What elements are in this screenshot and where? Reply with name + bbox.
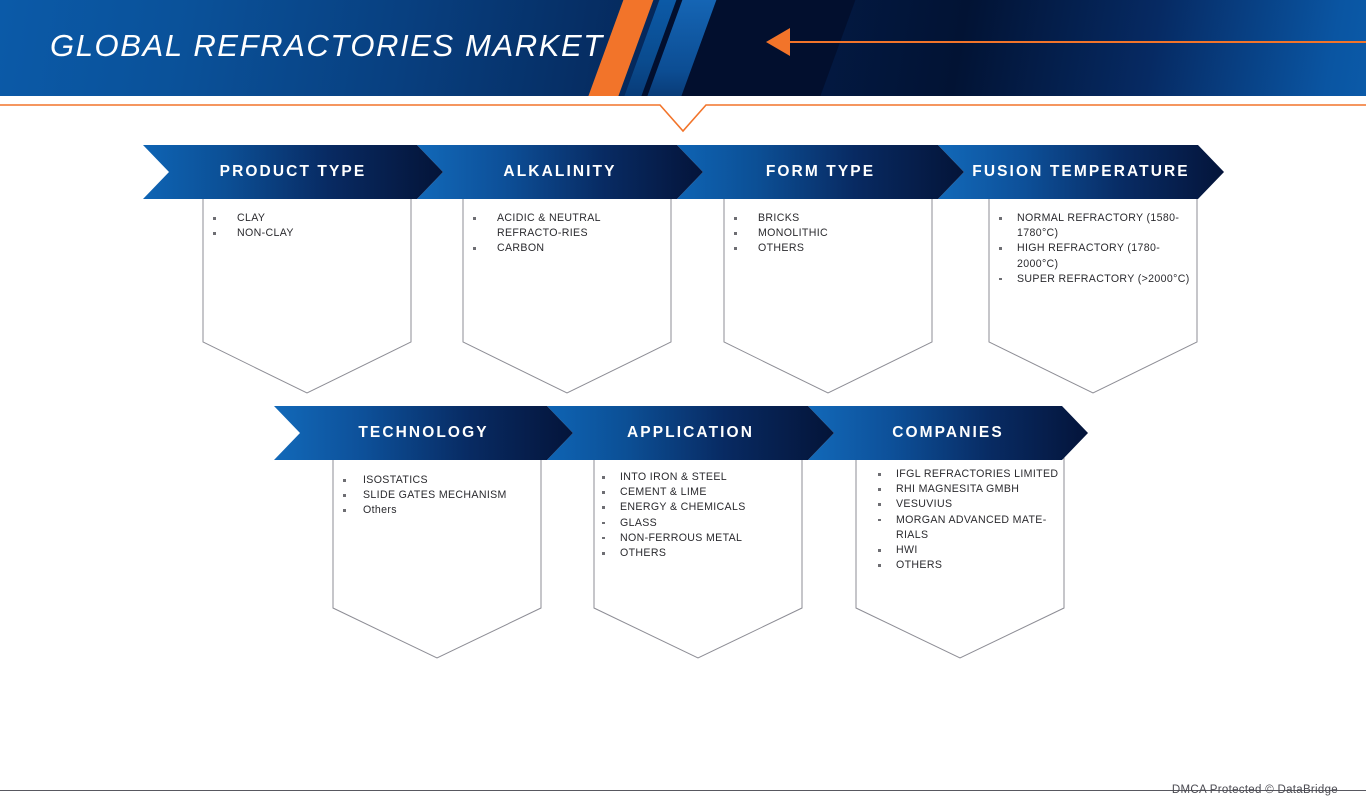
list-item: BRICKS <box>758 211 924 226</box>
list-item: NON-FERROUS METAL <box>620 531 794 546</box>
bullet-icon <box>999 217 1002 220</box>
list-item-label: ENERGY & CHEMICALS <box>620 501 746 513</box>
banner-form-type[interactable]: FORM TYPE <box>703 145 938 199</box>
banner-label-product-type: PRODUCT TYPE <box>220 163 367 181</box>
list-item-label: HIGH REFRACTORY (1780-2000°C) <box>1017 242 1160 269</box>
banner-label-companies: COMPANIES <box>892 424 1004 442</box>
list-item: CARBON <box>497 241 657 256</box>
list-item-label: IFGL REFRACTORIES LIMITED <box>896 468 1058 480</box>
list-item: CEMENT & LIME <box>620 485 794 500</box>
list-fusion-temperature: NORMAL REFRACTORY (1580-1780°C) HIGH REF… <box>1017 211 1195 287</box>
list-item-label: MONOLITHIC <box>758 227 828 239</box>
banner-label-application: APPLICATION <box>627 424 754 442</box>
list-item: ACIDIC & NEUTRAL REFRACTO-RIES <box>497 211 657 241</box>
list-form-type: BRICKS MONOLITHIC OTHERS <box>758 211 924 257</box>
bullet-icon <box>343 494 346 497</box>
bullet-icon <box>602 491 605 494</box>
list-item: RHI MAGNESITA GMBH <box>896 482 1062 497</box>
list-application: INTO IRON & STEEL CEMENT & LIME ENERGY &… <box>620 470 794 561</box>
list-item: VESUVIUS <box>896 497 1062 512</box>
list-item-label: INTO IRON & STEEL <box>620 471 727 483</box>
banner-application[interactable]: APPLICATION <box>573 406 808 460</box>
bullet-icon <box>878 473 881 476</box>
banner-companies[interactable]: COMPANIES <box>834 406 1062 460</box>
footer-divider <box>0 790 1366 791</box>
bullet-icon <box>213 232 216 235</box>
list-alkalinity: ACIDIC & NEUTRAL REFRACTO-RIES CARBON <box>497 211 657 257</box>
list-item: SLIDE GATES MECHANISM <box>363 488 533 503</box>
bullet-icon <box>343 509 346 512</box>
bullet-icon <box>999 278 1002 281</box>
list-item-label: SUPER REFRACTORY (>2000°C) <box>1017 273 1190 285</box>
banner-label-fusion-temperature: FUSION TEMPERATURE <box>972 163 1190 181</box>
banner-technology[interactable]: TECHNOLOGY <box>300 406 547 460</box>
list-item-label: ACIDIC & NEUTRAL REFRACTO-RIES <box>497 212 601 239</box>
bullet-icon <box>999 247 1002 250</box>
list-technology: ISOSTATICS SLIDE GATES MECHANISM Others <box>363 473 533 519</box>
list-item-label: GLASS <box>620 517 657 529</box>
bullet-icon <box>602 522 605 525</box>
diagram-stage: PRODUCT TYPE ALKALINITY FORM TYPE FUSION… <box>0 0 1366 808</box>
banner-shapes <box>0 0 1366 808</box>
list-item-label: MORGAN ADVANCED MATE-RIALS <box>896 514 1047 541</box>
list-item-label: NON-FERROUS METAL <box>620 532 742 544</box>
list-item: HIGH REFRACTORY (1780-2000°C) <box>1017 241 1195 271</box>
list-item-label: Others <box>363 504 397 516</box>
list-item-label: CARBON <box>497 242 544 254</box>
list-item-label: RHI MAGNESITA GMBH <box>896 483 1019 495</box>
list-item: ISOSTATICS <box>363 473 533 488</box>
list-item: Others <box>363 503 533 518</box>
bullet-icon <box>878 564 881 567</box>
bullet-icon <box>602 476 605 479</box>
footer-credit: DMCA Protected © DataBridge <box>1172 784 1338 796</box>
banner-label-form-type: FORM TYPE <box>766 163 875 181</box>
list-item-label: VESUVIUS <box>896 498 952 510</box>
list-item-label: OTHERS <box>620 547 666 559</box>
list-item-label: OTHERS <box>896 559 942 571</box>
bullet-icon <box>602 552 605 555</box>
list-item: CLAY <box>237 211 403 226</box>
list-item: OTHERS <box>896 558 1062 573</box>
list-item-label: CEMENT & LIME <box>620 486 707 498</box>
list-item-label: OTHERS <box>758 242 804 254</box>
bullet-icon <box>602 537 605 540</box>
list-item: OTHERS <box>758 241 924 256</box>
list-item-label: HWI <box>896 544 918 556</box>
list-item: MONOLITHIC <box>758 226 924 241</box>
list-item: OTHERS <box>620 546 794 561</box>
bullet-icon <box>343 479 346 482</box>
bullet-icon <box>878 503 881 506</box>
bullet-icon <box>878 549 881 552</box>
list-item: HWI <box>896 543 1062 558</box>
bullet-icon <box>734 217 737 220</box>
list-item: ENERGY & CHEMICALS <box>620 500 794 515</box>
bullet-icon <box>734 232 737 235</box>
list-item: NORMAL REFRACTORY (1580-1780°C) <box>1017 211 1195 241</box>
banner-label-technology: TECHNOLOGY <box>358 424 488 442</box>
list-item: SUPER REFRACTORY (>2000°C) <box>1017 272 1195 287</box>
list-item: GLASS <box>620 516 794 531</box>
list-item-label: CLAY <box>237 212 265 224</box>
bullet-icon <box>213 217 216 220</box>
list-item: INTO IRON & STEEL <box>620 470 794 485</box>
bullet-icon <box>473 247 476 250</box>
bullet-icon <box>602 506 605 509</box>
banner-alkalinity[interactable]: ALKALINITY <box>443 145 677 199</box>
banner-fusion-temperature[interactable]: FUSION TEMPERATURE <box>964 145 1198 199</box>
list-item-label: BRICKS <box>758 212 800 224</box>
bullet-icon <box>734 247 737 250</box>
banner-product-type[interactable]: PRODUCT TYPE <box>169 145 417 199</box>
bullet-icon <box>473 217 476 220</box>
list-companies: IFGL REFRACTORIES LIMITED RHI MAGNESITA … <box>896 467 1062 573</box>
list-item: NON-CLAY <box>237 226 403 241</box>
bullet-icon <box>878 488 881 491</box>
list-item: MORGAN ADVANCED MATE-RIALS <box>896 513 1062 543</box>
list-product-type: CLAY NON-CLAY <box>237 211 403 241</box>
bullet-icon <box>878 519 881 522</box>
list-item-label: NORMAL REFRACTORY (1580-1780°C) <box>1017 212 1179 239</box>
list-item-label: SLIDE GATES MECHANISM <box>363 489 507 501</box>
banner-label-alkalinity: ALKALINITY <box>503 163 616 181</box>
list-item-label: NON-CLAY <box>237 227 294 239</box>
slide-root: GLOBAL REFRACTORIES MARKET <box>0 0 1366 808</box>
list-item-label: ISOSTATICS <box>363 474 428 486</box>
list-item: IFGL REFRACTORIES LIMITED <box>896 467 1062 482</box>
